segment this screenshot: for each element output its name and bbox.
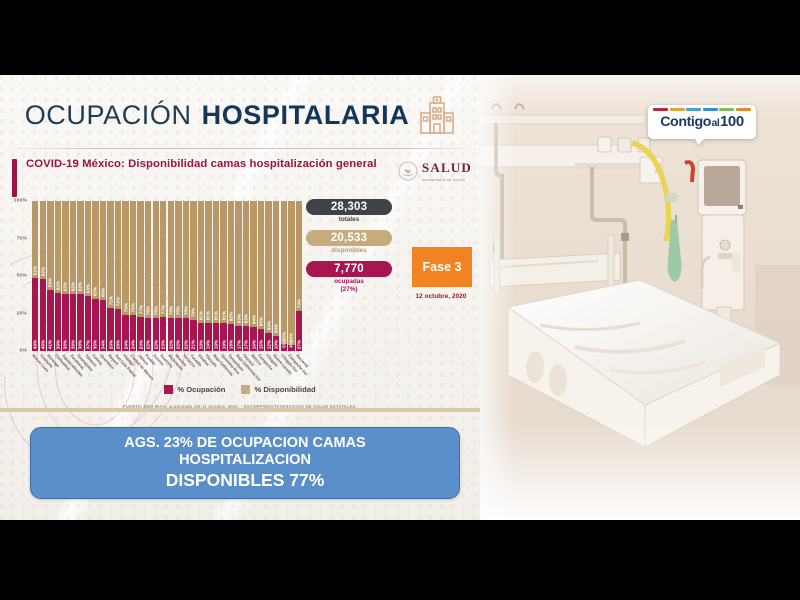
- x-axis-tick: Hidalgo: [122, 353, 128, 381]
- x-axis-tick: Guanajuato: [77, 353, 83, 381]
- bar-label-ocupacion: 10%: [274, 340, 279, 350]
- legend-label-disponibilidad: % Disponibilidad: [254, 385, 315, 394]
- stacked-bar: 61%39%: [55, 201, 61, 351]
- x-axis-tick: Jalisco: [137, 353, 143, 381]
- bar-label-disponibilidad: 65%: [93, 286, 98, 296]
- x-axis-tick: Tabasco: [85, 353, 91, 381]
- legend-swatch-disponibilidad: [241, 385, 250, 394]
- bar-segment-disponibilidad: 77%: [137, 201, 143, 317]
- bar-segment-ocupacion: 22%: [175, 318, 181, 351]
- bar-segment-ocupacion: 41%: [47, 290, 53, 352]
- bar-segment-ocupacion: 24%: [122, 315, 128, 351]
- bar-label-disponibilidad: 81%: [221, 310, 226, 320]
- bar-segment-ocupacion: 18%: [228, 324, 234, 351]
- bar-label-ocupacion: 18%: [229, 340, 234, 350]
- bar-label-disponibilidad: 62%: [63, 282, 68, 292]
- bar-segment-ocupacion: 28%: [115, 309, 121, 351]
- bar-label-ocupacion: 15%: [259, 340, 264, 350]
- bar-label-disponibilidad: 59%: [48, 277, 53, 287]
- callout-occupied-caption: ocupadas (27%): [306, 278, 392, 294]
- bar-segment-disponibilidad: 76%: [130, 201, 136, 315]
- stacked-bar: 77%23%: [137, 201, 143, 351]
- bar-segment-disponibilidad: 81%: [198, 201, 204, 323]
- bar-segment-ocupacion: 24%: [130, 315, 136, 351]
- y-axis-tick: 50%: [17, 274, 27, 279]
- bar-label-ocupacion: 24%: [123, 340, 128, 350]
- bar-segment-disponibilidad: 71%: [107, 201, 113, 308]
- logo-word-100: 100: [720, 113, 744, 130]
- bar-label-disponibilidad: 51%: [33, 265, 38, 275]
- x-axis-tick: Sonora: [153, 353, 159, 381]
- x-axis-tick: Quintana Roo: [220, 353, 226, 381]
- presentation-slide: OCUPACIÓN HOSPITALARIA: [0, 75, 480, 520]
- stacked-bar: 76%24%: [130, 201, 136, 351]
- stacked-bar: 62%38%: [62, 201, 68, 351]
- stacked-bar: 62%38%: [70, 201, 76, 351]
- bar-segment-disponibilidad: 83%: [235, 201, 241, 326]
- bar-segment-ocupacion: 5%: [281, 344, 287, 352]
- x-axis-tick: Querétaro: [100, 353, 106, 381]
- bar-segment-disponibilidad: 51%: [32, 201, 38, 278]
- x-axis-tick: Michoacán: [168, 353, 174, 381]
- bar-segment-ocupacion: 22%: [183, 318, 189, 351]
- legend-item-ocupacion: % Ocupación: [164, 385, 225, 394]
- stacked-bar: 66%34%: [100, 201, 106, 351]
- x-axis-tick: Oaxaca: [243, 353, 249, 381]
- x-axis-tick: México: [250, 353, 256, 381]
- stacked-bar: 78%22%: [153, 201, 159, 351]
- logo-color-bar-1: [653, 108, 668, 111]
- callout-total-caption: totales: [306, 216, 392, 224]
- bar-label-disponibilidad: 76%: [131, 303, 136, 313]
- bar-label-ocupacion: 12%: [266, 340, 271, 350]
- x-axis-tick: Tamaulipas: [228, 353, 234, 381]
- bar-label-disponibilidad: 79%: [191, 307, 196, 317]
- x-axis-tick: Veracruz: [183, 353, 189, 381]
- bar-segment-ocupacion: 22%: [168, 318, 174, 351]
- bar-segment-disponibilidad: 78%: [175, 201, 181, 318]
- bar-segment-ocupacion: 34%: [100, 300, 106, 351]
- stacked-bar: 85%15%: [258, 201, 264, 351]
- salud-logo: SALUD SECRETARÍA DE SALUD: [398, 159, 472, 182]
- bar-label-disponibilidad: 52%: [40, 267, 45, 277]
- bar-segment-ocupacion: 19%: [205, 323, 211, 352]
- x-axis-labels: Nuevo LeónCoahuilaDurangoChihuahuaAguasc…: [32, 353, 302, 381]
- title-divider: [0, 148, 480, 149]
- bar-segment-ocupacion: 27%: [296, 311, 302, 352]
- salud-subtitle: SECRETARÍA DE SALUD: [422, 178, 472, 182]
- bar-label-ocupacion: 41%: [48, 340, 53, 350]
- stacked-bar: 77%23%: [160, 201, 166, 351]
- bar-label-disponibilidad: 62%: [78, 282, 83, 292]
- callout-available-caption: disponibles: [306, 247, 392, 255]
- legend-item-disponibilidad: % Disponibilidad: [241, 385, 315, 394]
- bar-label-disponibilidad: 62%: [70, 282, 75, 292]
- stacked-bar: 95%5%: [281, 201, 287, 351]
- bar-segment-ocupacion: 19%: [213, 323, 219, 352]
- bar-label-ocupacion: 34%: [101, 340, 106, 350]
- bar-segment-disponibilidad: 62%: [62, 201, 68, 294]
- hospital-building-icon: [419, 95, 455, 135]
- bar-segment-disponibilidad: 65%: [92, 201, 98, 299]
- bar-label-ocupacion: 24%: [131, 340, 136, 350]
- y-axis: 0%25%50%75%100%: [0, 201, 30, 351]
- screenshot-root: OCUPACIÓN HOSPITALARIA: [0, 0, 800, 600]
- bar-segment-ocupacion: 19%: [198, 323, 204, 352]
- bar-label-ocupacion: 5%: [281, 341, 286, 348]
- y-axis-tick: 75%: [17, 236, 27, 241]
- banner-line-1: AGS. 23% DE OCUPACION CAMAS: [124, 435, 365, 453]
- stacked-bar: 78%22%: [168, 201, 174, 351]
- bar-segment-disponibilidad: 81%: [205, 201, 211, 323]
- x-axis-tick: Baja California: [213, 353, 219, 381]
- bar-label-disponibilidad: 77%: [161, 304, 166, 314]
- x-axis-tick: Guerrero: [160, 353, 166, 381]
- bar-segment-ocupacion: 22%: [153, 318, 159, 351]
- legend-swatch-ocupacion: [164, 385, 173, 394]
- bar-segment-ocupacion: 23%: [160, 317, 166, 352]
- bar-segment-disponibilidad: 78%: [153, 201, 159, 318]
- stacked-bar: 84%16%: [250, 201, 256, 351]
- bar-segment-disponibilidad: 62%: [70, 201, 76, 294]
- hospital-room-photo: Contigo al 100: [480, 75, 800, 520]
- x-axis-tick: Nuevo León: [32, 353, 38, 381]
- bar-label-ocupacion: 4%: [289, 341, 294, 348]
- bar-label-ocupacion: 23%: [138, 340, 143, 350]
- bar-segment-ocupacion: 17%: [235, 326, 241, 352]
- bar-segment-disponibilidad: 84%: [250, 201, 256, 327]
- x-axis-tick: Yucatán: [190, 353, 196, 381]
- report-date: 12 octubre, 2020: [411, 293, 471, 300]
- stacked-bar: 78%22%: [145, 201, 151, 351]
- bar-label-ocupacion: 28%: [116, 340, 121, 350]
- bar-segment-disponibilidad: 61%: [55, 201, 61, 293]
- bar-label-ocupacion: 37%: [85, 340, 90, 350]
- x-axis-tick: Baja California Sur: [235, 353, 241, 381]
- chart-callouts: 28,303 totales 20,533 disponibles 7,770 …: [306, 199, 392, 300]
- bar-segment-ocupacion: 17%: [243, 326, 249, 352]
- bar-label-ocupacion: 49%: [33, 340, 38, 350]
- x-axis-tick: Chiapas Sur: [281, 353, 287, 381]
- x-axis-tick: Zacatecas: [70, 353, 76, 381]
- x-axis-tick: Chiapas: [265, 353, 271, 381]
- stacked-bar: 63%37%: [85, 201, 91, 351]
- bar-segment-disponibilidad: 90%: [273, 201, 279, 336]
- bar-segment-ocupacion: 48%: [40, 279, 46, 351]
- chart-subtitle: COVID-19 México: Disponibilidad camas ho…: [26, 157, 392, 172]
- stacked-bar: 65%35%: [92, 201, 98, 351]
- summary-banner-text: AGS. 23% DE OCUPACION CAMAS HOSPITALIZAC…: [124, 435, 365, 492]
- bar-segment-ocupacion: 49%: [32, 278, 38, 352]
- stacked-bar: 51%49%: [32, 201, 38, 351]
- bar-label-ocupacion: 21%: [191, 340, 196, 350]
- bar-series-group: 51%49%52%48%59%41%61%39%62%38%62%38%62%3…: [32, 201, 302, 351]
- callout-total-value: 28,303: [306, 199, 392, 215]
- title-word-ocupacion: OCUPACIÓN: [25, 100, 192, 131]
- hospital-room-illustration: [480, 75, 800, 520]
- x-axis-tick: Coahuila: [40, 353, 46, 381]
- bar-label-ocupacion: 27%: [296, 340, 301, 350]
- x-axis-tick: Chihuahua: [55, 353, 61, 381]
- bar-segment-disponibilidad: 73%: [296, 201, 302, 311]
- salud-wordmark: SALUD: [422, 160, 472, 175]
- bar-label-disponibilidad: 81%: [198, 310, 203, 320]
- stacked-bar: 79%21%: [190, 201, 196, 351]
- bar-segment-disponibilidad: 78%: [145, 201, 151, 318]
- bar-label-ocupacion: 19%: [221, 340, 226, 350]
- bar-label-disponibilidad: 81%: [206, 310, 211, 320]
- bar-label-disponibilidad: 76%: [123, 303, 128, 313]
- bar-label-disponibilidad: 72%: [116, 297, 121, 307]
- slide-title: OCUPACIÓN HOSPITALARIA: [0, 85, 480, 145]
- stacked-bar: 72%28%: [115, 201, 121, 351]
- bar-label-ocupacion: 48%: [40, 340, 45, 350]
- bar-segment-disponibilidad: 63%: [85, 201, 91, 296]
- bar-segment-ocupacion: 21%: [190, 320, 196, 352]
- bar-segment-disponibilidad: 62%: [77, 201, 83, 294]
- logo-color-bars: [653, 108, 751, 111]
- bar-segment-disponibilidad: 66%: [100, 201, 106, 300]
- logo-color-bar-5: [719, 108, 734, 111]
- chart-subtitle-block: COVID-19 México: Disponibilidad camas ho…: [12, 157, 392, 172]
- x-axis-tick: Puebla: [145, 353, 151, 381]
- logo-color-bar-2: [670, 108, 685, 111]
- stacked-bar: 62%38%: [77, 201, 83, 351]
- bar-label-ocupacion: 38%: [78, 340, 83, 350]
- contigo-al-100-logo: Contigo al 100: [648, 105, 756, 139]
- bar-segment-disponibilidad: 78%: [168, 201, 174, 318]
- bar-label-disponibilidad: 78%: [168, 306, 173, 316]
- bar-segment-disponibilidad: 81%: [220, 201, 226, 323]
- bar-segment-ocupacion: 10%: [273, 336, 279, 351]
- x-axis-tick: Sinaloa: [198, 353, 204, 381]
- bar-segment-disponibilidad: 52%: [40, 201, 46, 279]
- x-axis-tick: Campeche: [258, 353, 264, 381]
- bar-segment-ocupacion: 39%: [55, 293, 61, 352]
- bar-segment-ocupacion: 19%: [220, 323, 226, 352]
- bar-label-disponibilidad: 82%: [229, 312, 234, 322]
- bar-segment-disponibilidad: 95%: [281, 201, 287, 344]
- bar-segment-ocupacion: 29%: [107, 308, 113, 352]
- logo-word-contigo: Contigo: [660, 114, 711, 130]
- bar-segment-disponibilidad: 79%: [190, 201, 196, 320]
- stacked-bar: 81%19%: [198, 201, 204, 351]
- bar-segment-disponibilidad: 76%: [122, 201, 128, 315]
- logo-color-bar-6: [736, 108, 751, 111]
- stacked-bar: 81%19%: [213, 201, 219, 351]
- callout-occupied-value: 7,770: [306, 261, 392, 277]
- bar-label-ocupacion: 19%: [206, 340, 211, 350]
- x-axis-tick: Nuevo Laredo: [273, 353, 279, 381]
- logo-card: Contigo al 100: [648, 105, 756, 139]
- banner-line-2: HOSPITALIZACION: [124, 452, 365, 470]
- legend-label-ocupacion: % Ocupación: [177, 385, 225, 394]
- stacked-bar: 90%10%: [273, 201, 279, 351]
- bar-segment-disponibilidad: 59%: [47, 201, 53, 290]
- bar-segment-disponibilidad: 88%: [265, 201, 271, 333]
- bar-segment-ocupacion: 23%: [137, 317, 143, 352]
- bar-label-disponibilidad: 63%: [85, 283, 90, 293]
- chart-container: COVID-19 México: Disponibilidad camas ho…: [0, 151, 480, 416]
- bar-label-ocupacion: 38%: [63, 340, 68, 350]
- bar-segment-ocupacion: 38%: [70, 294, 76, 351]
- subtitle-accent-bar: [12, 159, 17, 197]
- x-axis-tick: Aguascalientes: [62, 353, 68, 381]
- bar-segment-ocupacion: 4%: [288, 345, 294, 351]
- bar-label-ocupacion: 16%: [251, 340, 256, 350]
- bar-label-ocupacion: 22%: [183, 340, 188, 350]
- x-axis-tick: Tlaxcala: [205, 353, 211, 381]
- fase-badge: Fase 3: [412, 247, 472, 287]
- bar-label-disponibilidad: 78%: [146, 306, 151, 316]
- banner-line-3: DISPONIBLES 77%: [124, 470, 365, 491]
- bar-segment-ocupacion: 35%: [92, 299, 98, 352]
- bar-label-ocupacion: 39%: [55, 340, 60, 350]
- stacked-bar: 73%27%: [296, 201, 302, 351]
- bar-segment-ocupacion: 15%: [258, 329, 264, 352]
- bar-label-disponibilidad: 81%: [213, 310, 218, 320]
- bar-label-ocupacion: 22%: [153, 340, 158, 350]
- title-word-hospitalaria: HOSPITALARIA: [202, 100, 410, 131]
- y-axis-tick: 0%: [20, 349, 27, 354]
- bar-label-disponibilidad: 73%: [296, 298, 301, 308]
- bar-label-ocupacion: 17%: [244, 340, 249, 350]
- callout-occupied-caption-line1: ocupadas: [306, 278, 392, 286]
- bar-label-ocupacion: 22%: [168, 340, 173, 350]
- bar-segment-disponibilidad: 78%: [183, 201, 189, 318]
- bar-label-ocupacion: 22%: [146, 340, 151, 350]
- video-frame: OCUPACIÓN HOSPITALARIA: [0, 75, 800, 520]
- logo-color-bar-4: [703, 108, 718, 111]
- bar-segment-ocupacion: 38%: [62, 294, 68, 351]
- y-axis-tick: 100%: [14, 199, 27, 204]
- bar-label-disponibilidad: 78%: [153, 306, 158, 316]
- x-axis-tick: Ciudad de México: [130, 353, 136, 381]
- bar-label-ocupacion: 17%: [236, 340, 241, 350]
- bar-label-ocupacion: 19%: [213, 340, 218, 350]
- x-axis-tick: San Luis Potosí: [115, 353, 121, 381]
- bar-label-ocupacion: 38%: [70, 340, 75, 350]
- x-axis-tick: Nacional: [296, 353, 302, 381]
- stacked-bar: 59%41%: [47, 201, 53, 351]
- bar-segment-ocupacion: 38%: [77, 294, 83, 351]
- chart-plot-area: 51%49%52%48%59%41%61%39%62%38%62%38%62%3…: [32, 201, 302, 351]
- bar-label-disponibilidad: 95%: [281, 331, 286, 341]
- stacked-bar: 76%24%: [122, 201, 128, 351]
- bar-label-ocupacion: 35%: [93, 340, 98, 350]
- bar-label-disponibilidad: 78%: [176, 306, 181, 316]
- bar-segment-ocupacion: 16%: [250, 327, 256, 351]
- chart-legend: % Ocupación % Disponibilidad: [0, 385, 480, 394]
- x-axis-tick: Morelos: [175, 353, 181, 381]
- stacked-bar: 81%19%: [205, 201, 211, 351]
- bar-label-ocupacion: 23%: [161, 340, 166, 350]
- stacked-bar: 78%22%: [183, 201, 189, 351]
- bar-label-disponibilidad: 84%: [251, 315, 256, 325]
- stacked-bar: 81%19%: [220, 201, 226, 351]
- bar-label-ocupacion: 19%: [198, 340, 203, 350]
- bar-segment-disponibilidad: 82%: [228, 201, 234, 324]
- bar-segment-disponibilidad: 96%: [288, 201, 294, 345]
- bar-segment-disponibilidad: 83%: [243, 201, 249, 326]
- stacked-bar: 83%17%: [235, 201, 241, 351]
- summary-banner: AGS. 23% DE OCUPACION CAMAS HOSPITALIZAC…: [30, 427, 460, 499]
- bar-segment-disponibilidad: 81%: [213, 201, 219, 323]
- bar-label-disponibilidad: 66%: [101, 288, 106, 298]
- stacked-bar: 52%48%: [40, 201, 46, 351]
- logo-wordmark: Contigo al 100: [660, 113, 744, 130]
- bar-label-disponibilidad: 83%: [244, 313, 249, 323]
- fase-badge-label: Fase 3: [423, 260, 462, 274]
- bar-segment-ocupacion: 22%: [145, 318, 151, 351]
- bar-label-ocupacion: 29%: [108, 340, 113, 350]
- slide-bottom-accent: [0, 408, 480, 412]
- bar-segment-disponibilidad: 85%: [258, 201, 264, 329]
- stacked-bar: 82%18%: [228, 201, 234, 351]
- mexico-eagle-seal-icon: [398, 161, 418, 181]
- bar-label-disponibilidad: 90%: [274, 324, 279, 334]
- bar-label-disponibilidad: 85%: [259, 316, 264, 326]
- stacked-bar: 88%12%: [265, 201, 271, 351]
- bar-label-disponibilidad: 71%: [108, 295, 113, 305]
- bar-segment-disponibilidad: 77%: [160, 201, 166, 317]
- callout-available-value: 20,533: [306, 230, 392, 246]
- bar-label-disponibilidad: 77%: [138, 304, 143, 314]
- bar-segment-ocupacion: 37%: [85, 296, 91, 352]
- stacked-bar: 78%22%: [175, 201, 181, 351]
- stacked-bar: 96%4%: [288, 201, 294, 351]
- logo-word-al: al: [711, 117, 719, 129]
- x-axis-tick: Colima: [92, 353, 98, 381]
- bar-label-disponibilidad: 61%: [55, 280, 60, 290]
- stacked-bar: 83%17%: [243, 201, 249, 351]
- bar-label-disponibilidad: 78%: [183, 306, 188, 316]
- bar-label-ocupacion: 22%: [176, 340, 181, 350]
- bar-segment-ocupacion: 12%: [265, 333, 271, 351]
- y-axis-tick: 25%: [17, 311, 27, 316]
- x-axis-tick: Campeche Sur: [288, 353, 294, 381]
- bar-label-disponibilidad: 83%: [236, 313, 241, 323]
- x-axis-tick: Nayarit: [107, 353, 113, 381]
- stacked-bar: 71%29%: [107, 201, 113, 351]
- bar-segment-disponibilidad: 72%: [115, 201, 121, 309]
- bar-label-disponibilidad: 88%: [266, 321, 271, 331]
- logo-color-bar-3: [686, 108, 701, 111]
- x-axis-tick: Durango: [47, 353, 53, 381]
- callout-occupied-caption-line2: (27%): [306, 286, 392, 294]
